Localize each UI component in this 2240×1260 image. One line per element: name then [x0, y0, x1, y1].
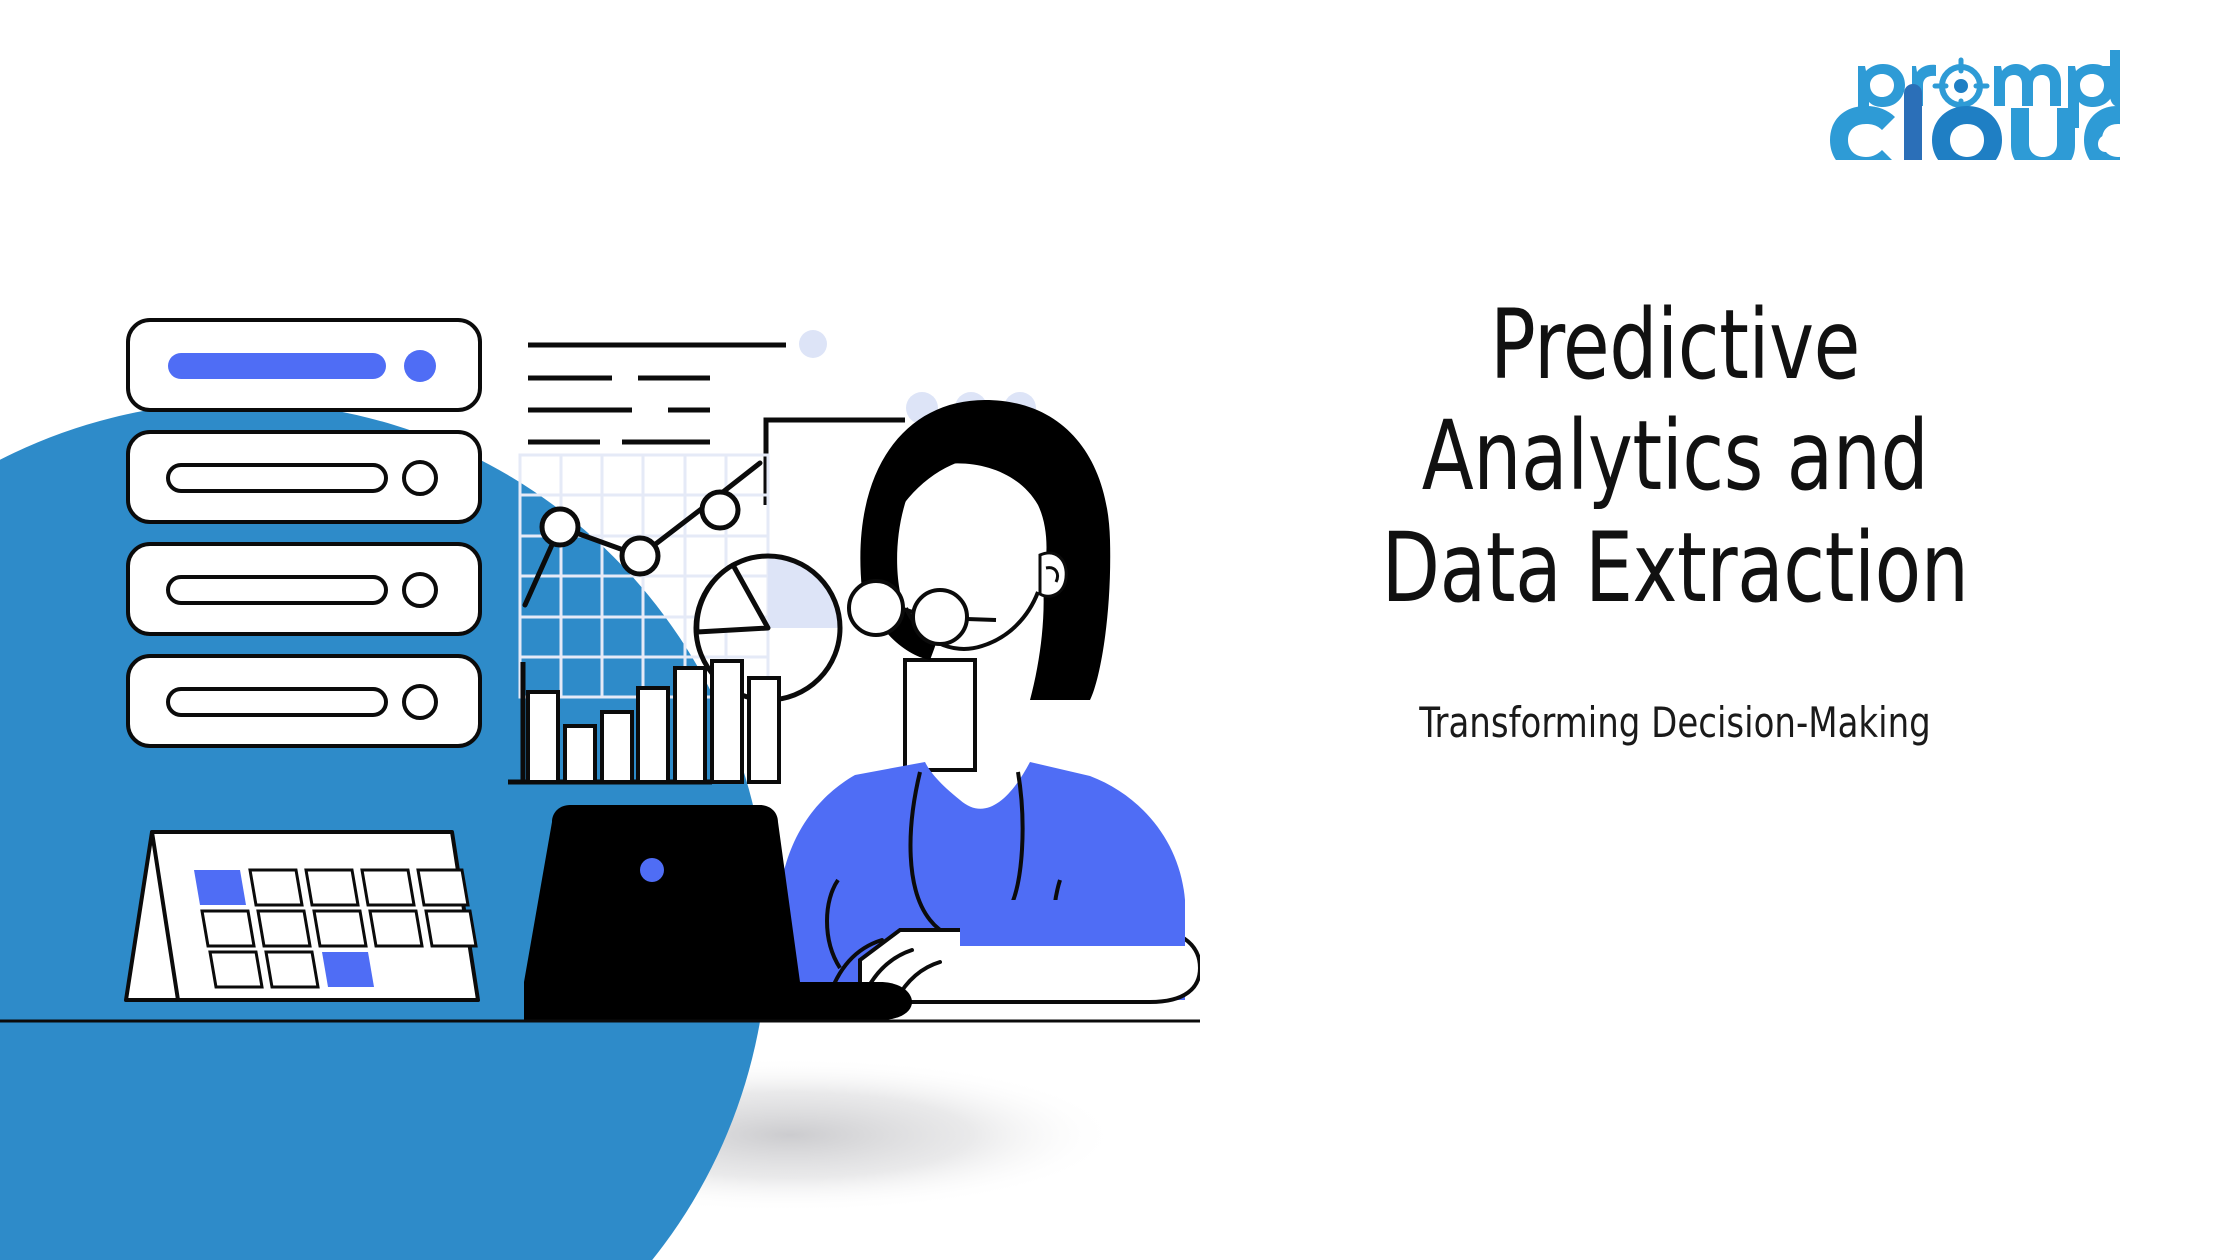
hero-text-block: Predictive Analytics and Data Extraction…	[1230, 290, 2120, 747]
title-line-3: Data Extraction	[1382, 512, 1969, 624]
ear	[1040, 553, 1066, 596]
keypad-key	[266, 952, 318, 987]
neck	[905, 660, 975, 770]
keypad-key-active	[194, 870, 246, 905]
page-subtitle: Transforming Decision-Making	[1275, 698, 2076, 747]
server-slot	[168, 465, 386, 491]
keypad-key	[210, 952, 262, 987]
server-unit	[128, 656, 480, 746]
server-slot	[168, 577, 386, 603]
analyst-character	[782, 400, 1200, 1002]
bar	[675, 668, 705, 782]
data-point-marker	[542, 509, 578, 545]
keypad-key	[314, 911, 366, 946]
bar	[602, 712, 632, 782]
logo-target-icon	[1935, 60, 1987, 112]
keypad-key	[418, 870, 468, 905]
server-unit	[128, 432, 480, 522]
server-unit	[128, 544, 480, 634]
server-slot-filled	[168, 353, 386, 379]
bar	[565, 726, 595, 782]
page-title: Predictive Analytics and Data Extraction	[1283, 290, 2066, 624]
promptcloud-logo[interactable]	[1820, 40, 2120, 160]
server-slot	[168, 689, 386, 715]
sleeve	[960, 900, 1185, 946]
keypad-key	[258, 911, 310, 946]
laptop-screen	[524, 805, 800, 982]
keypad-key	[202, 911, 254, 946]
slide-canvas: Predictive Analytics and Data Extraction…	[0, 0, 2240, 1260]
bar	[528, 692, 558, 782]
data-point-marker	[702, 492, 738, 528]
server-led	[404, 686, 436, 718]
bar	[749, 678, 779, 782]
laptop-base	[524, 982, 912, 1020]
keypad-key	[426, 911, 476, 946]
keypad-key	[370, 911, 422, 946]
illustration-area	[0, 0, 1200, 1260]
keypad-key	[250, 870, 302, 905]
server-led-filled	[404, 350, 436, 382]
bar	[712, 661, 742, 782]
keypad-key	[362, 870, 414, 905]
server-unit	[128, 320, 480, 410]
bar	[638, 688, 668, 782]
title-line-2: Analytics and	[1422, 400, 1929, 512]
laptop-indicator-dot	[640, 858, 664, 882]
document-text-lines	[528, 345, 786, 442]
data-point-marker	[622, 538, 658, 574]
title-line-1: Predictive	[1490, 289, 1860, 401]
server-led	[404, 462, 436, 494]
tilted-keypad	[126, 832, 478, 1000]
keypad-key-active	[322, 952, 374, 987]
keypad-key	[306, 870, 358, 905]
server-led	[404, 574, 436, 606]
